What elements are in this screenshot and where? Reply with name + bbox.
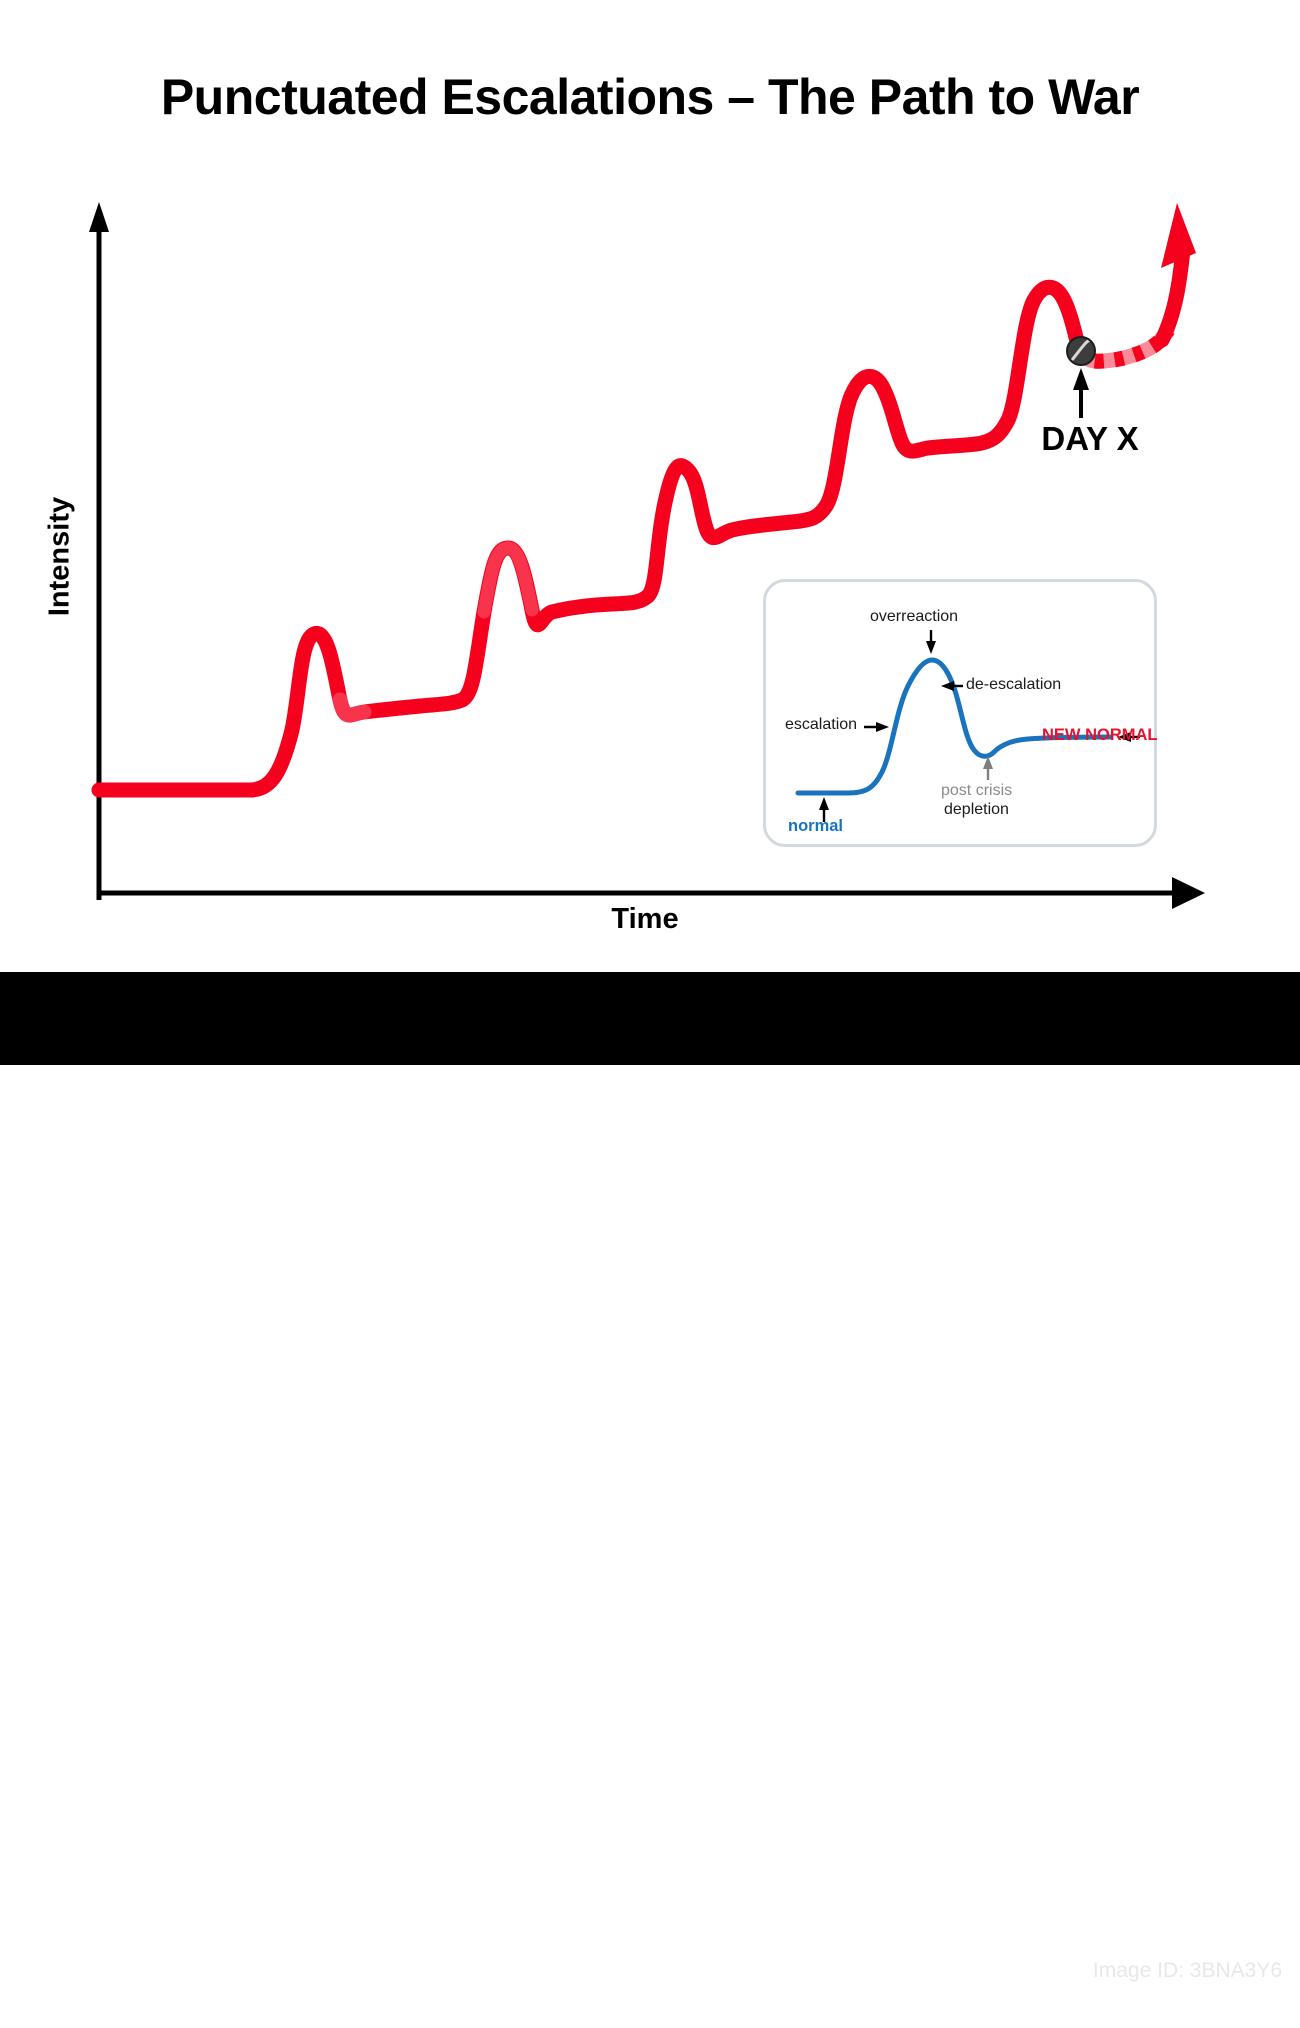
inset-overreaction-arrow	[926, 630, 936, 654]
curve-ghost-overlay	[340, 548, 532, 715]
inset-label-depletion: depletion	[944, 801, 1009, 819]
y-axis-arrowhead	[89, 202, 109, 232]
inset-label-escalation: escalation	[785, 716, 857, 734]
inset-label-post-crisis: post crisis	[941, 782, 1012, 800]
inset-crisis-cycle-panel: overreaction de-escalation escalation po…	[763, 579, 1157, 847]
curve-arrowhead	[1161, 203, 1196, 268]
inset-post-crisis-arrow	[983, 756, 993, 780]
inset-de-escalation-arrow	[941, 681, 963, 691]
inset-label-new-normal: NEW NORMAL	[1042, 726, 1157, 745]
image-id-text: Image ID: 3BNA3Y6	[1093, 1959, 1282, 1983]
inset-label-de-escalation: de-escalation	[966, 676, 1061, 694]
watermark-bar: alamy Image ID: 3BNA3Y6 www.alamy.com	[0, 972, 1300, 1065]
y-axis-label: Intensity	[44, 477, 77, 637]
alamy-url-text: www.alamy.com	[1098, 1988, 1282, 2016]
chart-canvas: Punctuated Escalations – The Path to War	[0, 0, 1300, 1065]
inset-escalation-arrow	[864, 722, 889, 732]
inset-label-normal: normal	[788, 817, 843, 836]
day-x-marker[interactable]	[1067, 337, 1095, 365]
x-axis-arrowhead	[1172, 877, 1205, 909]
inset-label-overreaction: overreaction	[870, 608, 958, 626]
alamy-logo: alamy	[46, 1962, 198, 2028]
day-x-pointer-arrow	[1073, 368, 1089, 418]
day-x-label: DAY X	[1010, 420, 1170, 458]
x-axis-label: Time	[545, 903, 745, 936]
